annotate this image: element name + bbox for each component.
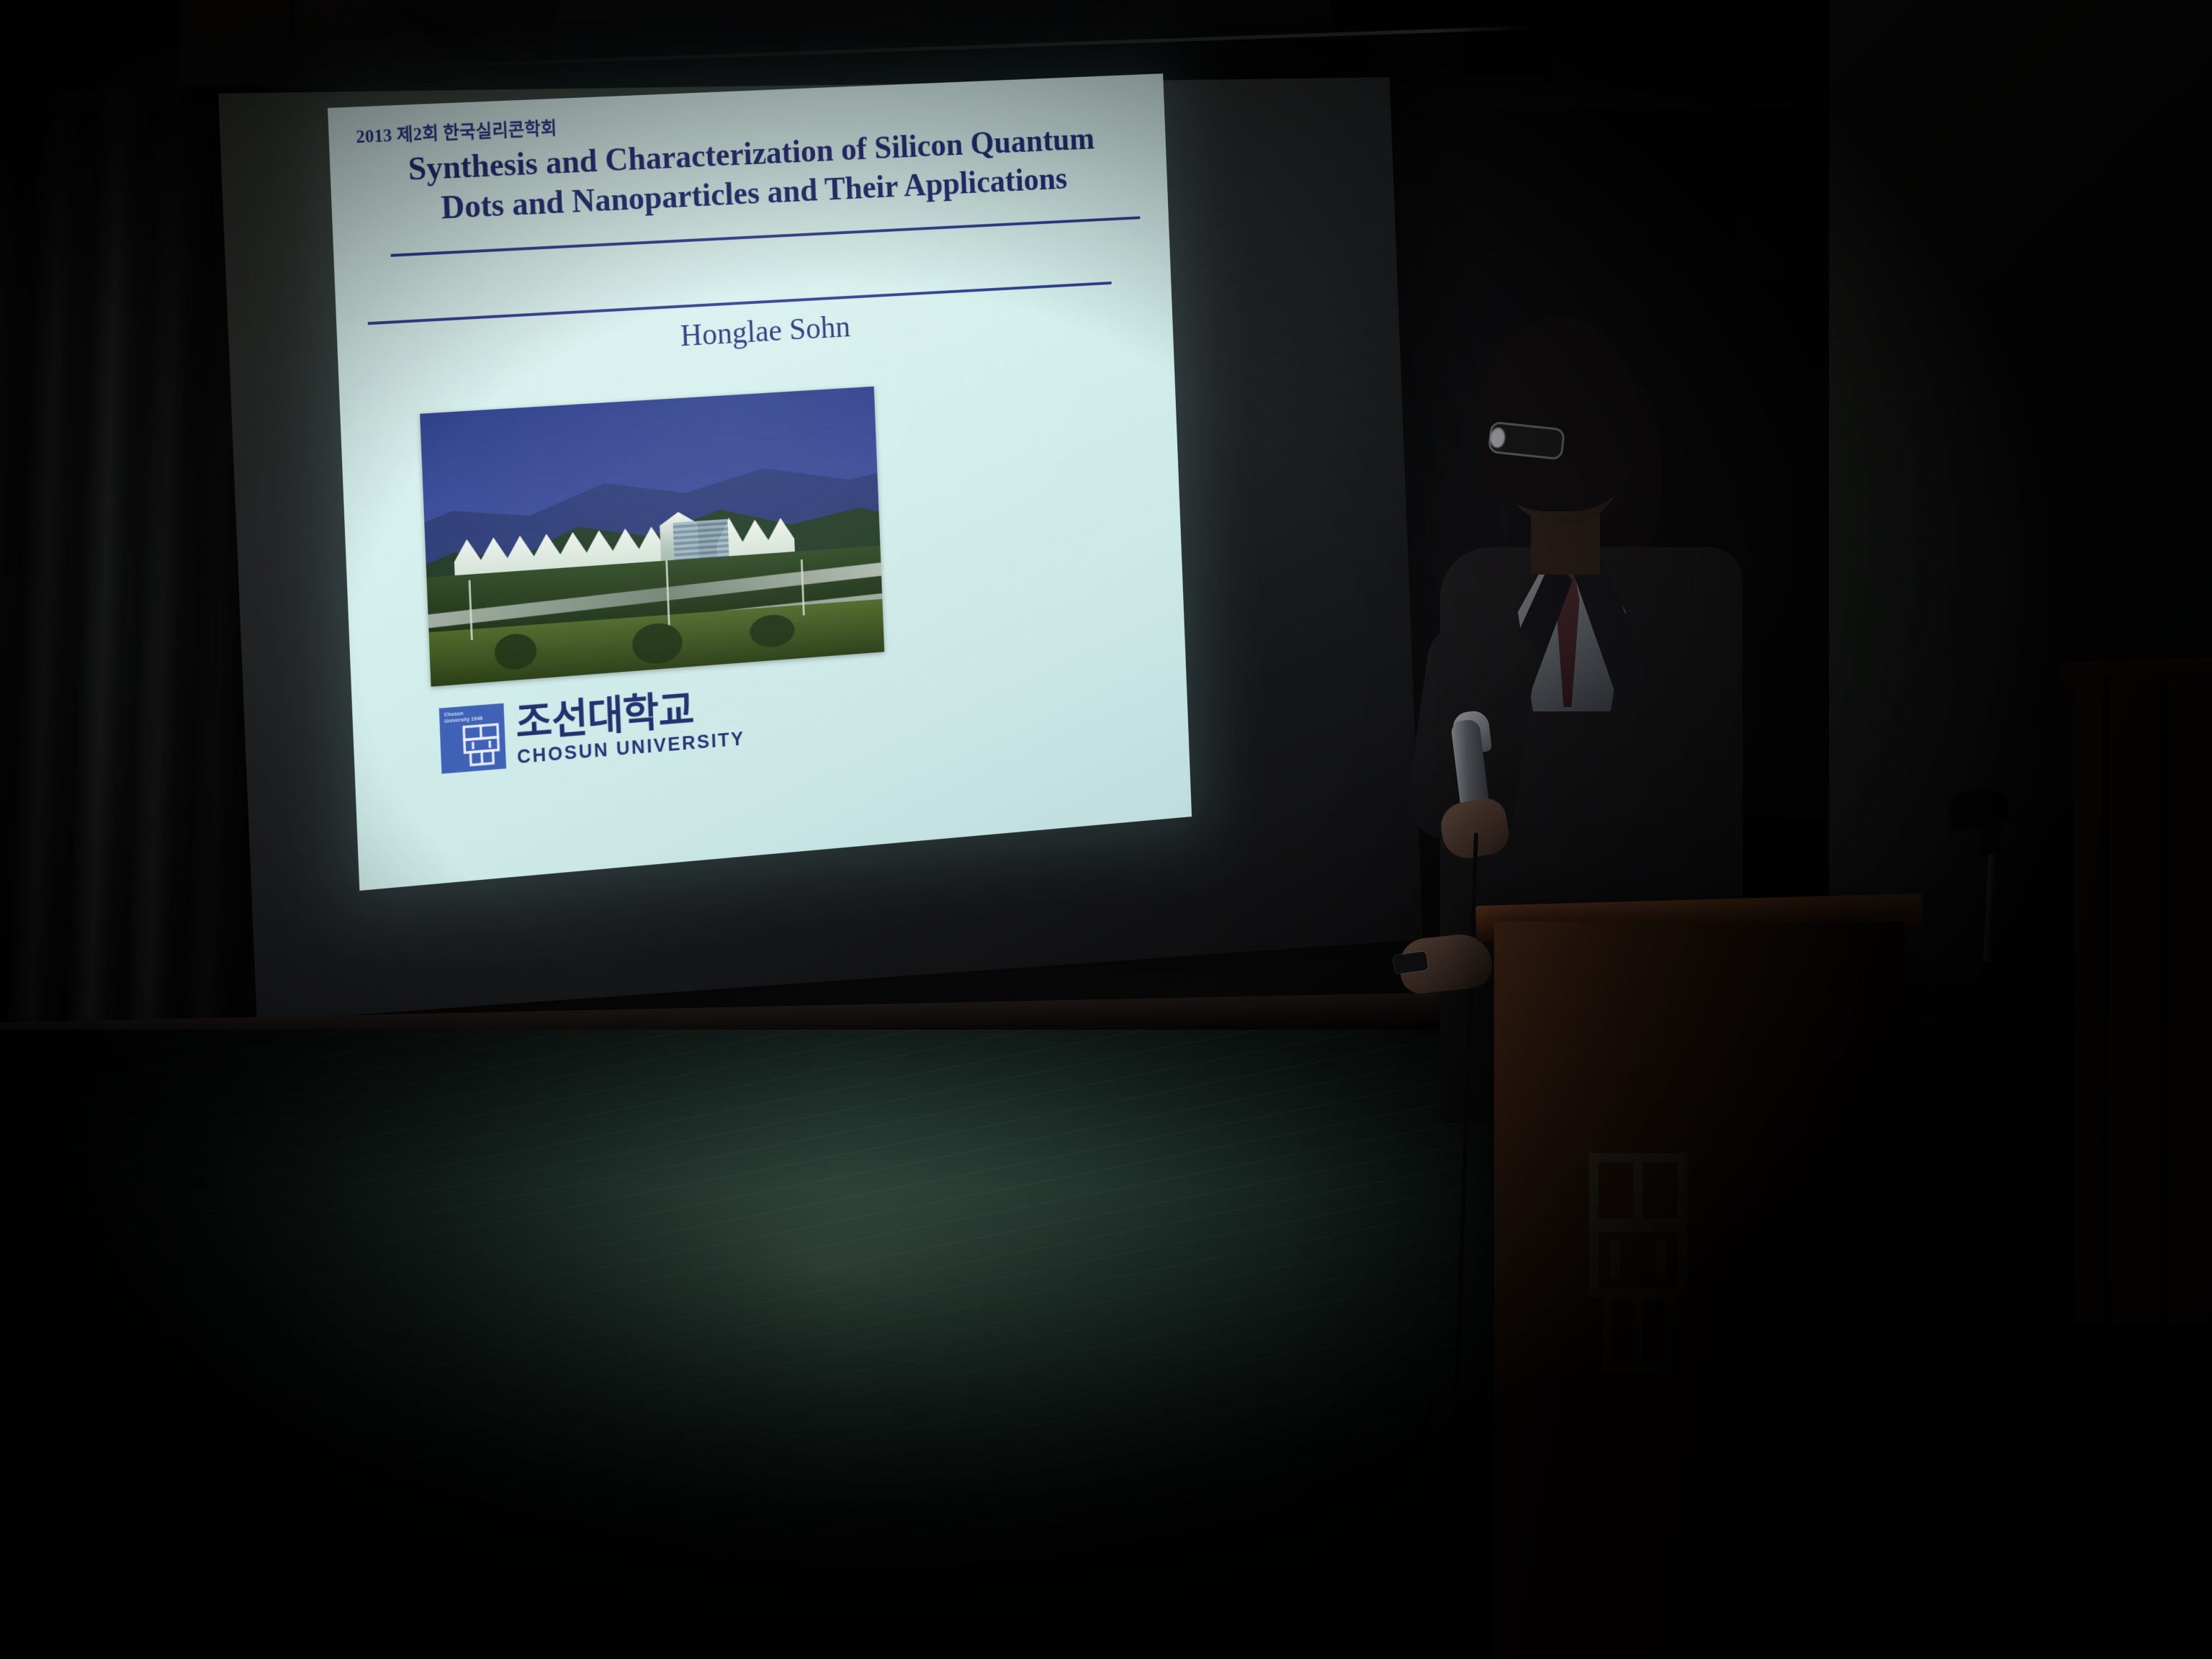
side-lectern (2074, 677, 2212, 1325)
curtain-shadow (0, 86, 259, 1159)
presenter-hair (1476, 317, 1642, 511)
stand-pole (1983, 854, 1996, 962)
emblem-glyph-icon (461, 722, 502, 768)
logo-wordmark: 조선대학교 CHOSUN UNIVERSITY (515, 685, 745, 767)
photograph-scene: 2013 제2회 한국실리콘학회 Synthesis and Character… (0, 0, 2212, 1659)
campus-photo (420, 387, 884, 687)
lectern-groove (2160, 677, 2167, 1325)
microphone-stand (1944, 785, 2038, 958)
projection-screen: 2013 제2회 한국실리콘학회 Synthesis and Character… (328, 73, 1192, 891)
korean-flag (178, 0, 557, 86)
chosun-emblem-icon: Chosun University 1946 (439, 703, 506, 774)
chosun-university-logo: Chosun University 1946 (439, 685, 746, 774)
lectern-groove (2103, 677, 2110, 1325)
presentation-slide: 2013 제2회 한국실리콘학회 Synthesis and Character… (328, 73, 1192, 891)
podium-shading (1494, 922, 1905, 1659)
